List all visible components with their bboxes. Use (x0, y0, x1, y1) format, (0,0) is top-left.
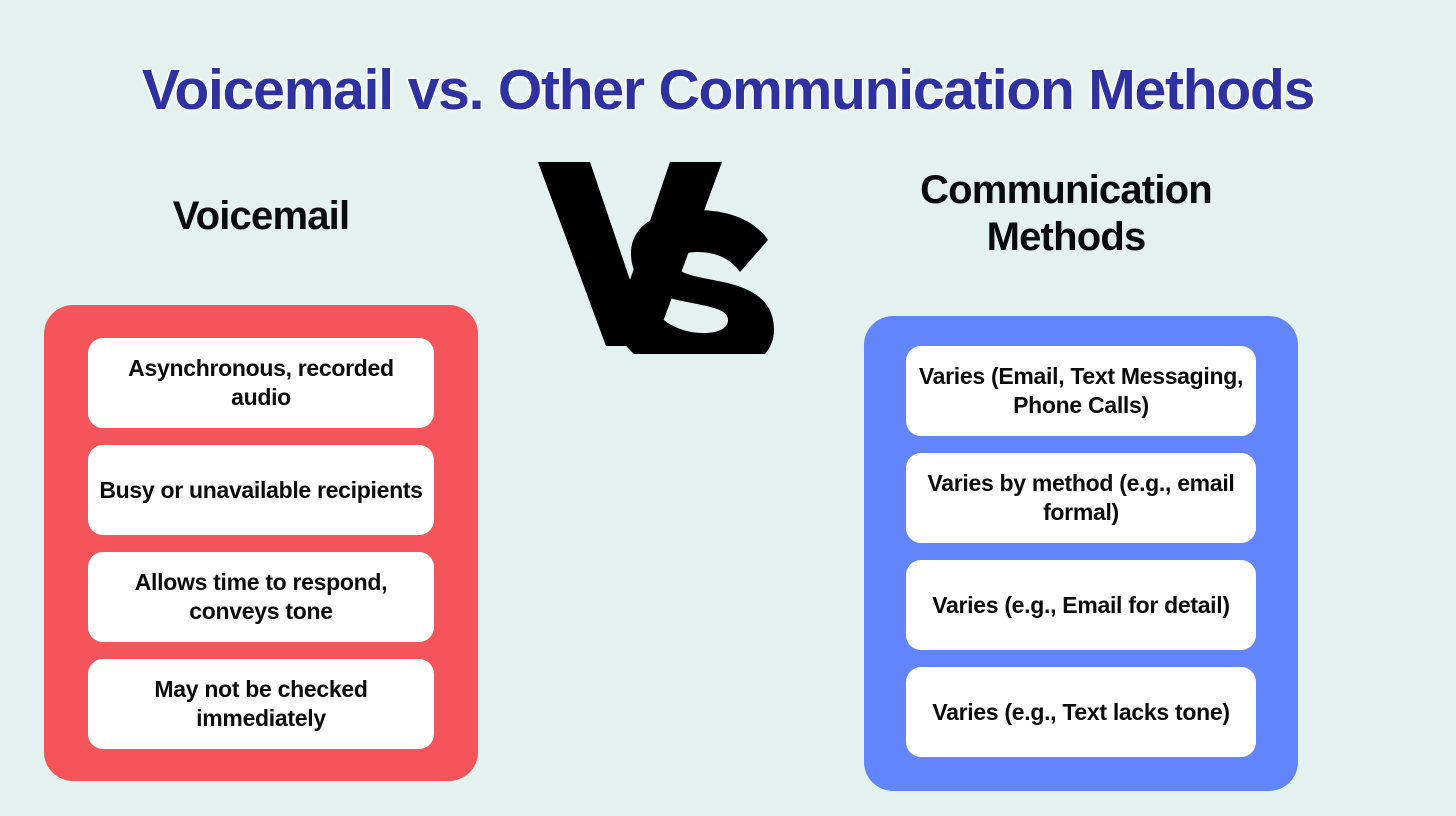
right-column-heading-line2: Methods (844, 214, 1288, 261)
list-item: Varies (e.g., Text lacks tone) (906, 667, 1256, 757)
right-column-heading: Communication Methods (844, 167, 1288, 261)
list-item: Asynchronous, recorded audio (88, 338, 434, 428)
list-item: May not be checked immediately (88, 659, 434, 749)
list-item: Busy or unavailable recipients (88, 445, 434, 535)
infographic-canvas: Voicemail vs. Other Communication Method… (0, 0, 1456, 816)
page-title: Voicemail vs. Other Communication Method… (0, 56, 1456, 124)
list-item: Varies (Email, Text Messaging, Phone Cal… (906, 346, 1256, 436)
right-column-heading-line1: Communication (844, 167, 1288, 214)
voicemail-panel: Asynchronous, recorded audio Busy or una… (44, 305, 478, 781)
list-item: Varies by method (e.g., email formal) (906, 453, 1256, 543)
vs-icon (528, 158, 776, 354)
left-column-heading: Voicemail (44, 193, 478, 240)
list-item: Allows time to respond, conveys tone (88, 552, 434, 642)
communication-methods-panel: Varies (Email, Text Messaging, Phone Cal… (864, 316, 1298, 791)
list-item: Varies (e.g., Email for detail) (906, 560, 1256, 650)
